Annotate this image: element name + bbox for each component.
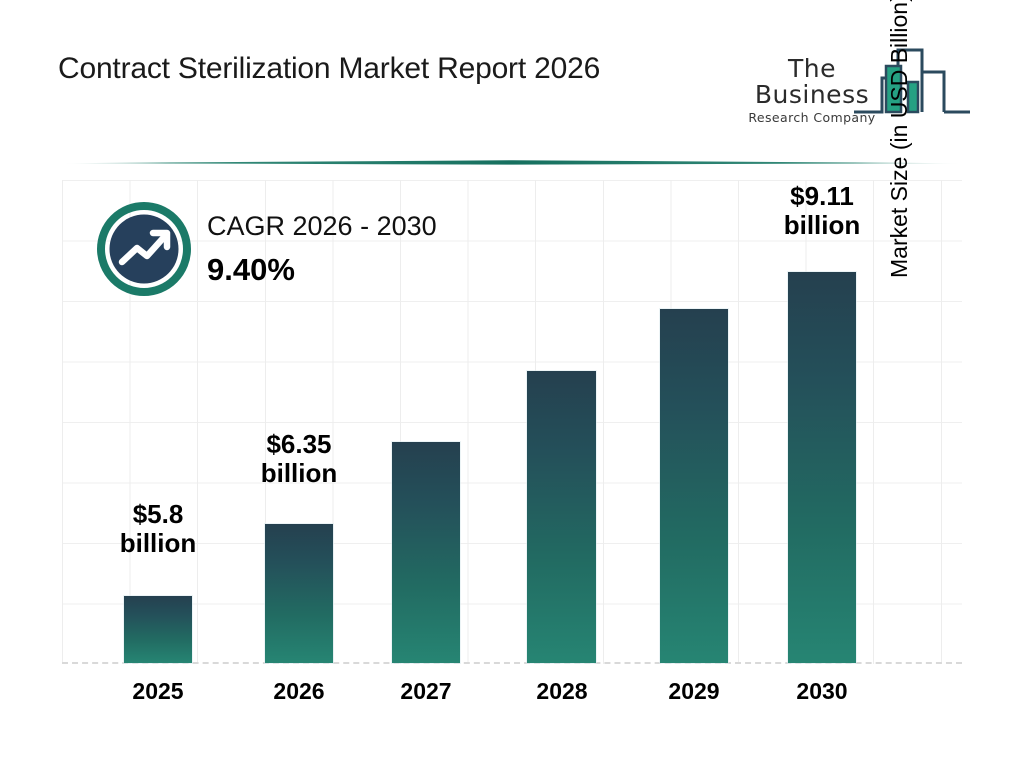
trending-up-icon [97,202,191,296]
bar-2027[interactable] [392,442,460,663]
bar-value-label-2030-line1: $9.11 [752,182,892,211]
x-axis-label-2025: 2025 [98,678,218,705]
x-axis-label-2027: 2027 [366,678,486,705]
bar-value-label-2026-line1: $6.35 [229,430,369,459]
bar-value-label-2026-line2: billion [229,459,369,488]
bar-value-label-2025: $5.8 billion [88,500,228,559]
bar-2029[interactable] [660,309,728,663]
bar-value-label-2030: $9.11 billion [752,182,892,241]
x-axis-label-2029: 2029 [634,678,754,705]
bar-2028[interactable] [527,371,596,663]
x-axis-label-2026: 2026 [239,678,359,705]
cagr-text-group: CAGR 2026 - 2030 9.40% [207,212,437,288]
x-axis-label-2030: 2030 [762,678,882,705]
cagr-badge: CAGR 2026 - 2030 9.40% [97,202,497,306]
y-axis-title: Market Size (in USD Billion) [886,0,913,278]
bar-2026[interactable] [265,524,333,663]
bar-value-label-2026: $6.35 billion [229,430,369,489]
bar-2025[interactable] [124,596,192,663]
bars-layer: $5.8 billion $6.35 billion $9.11 billion… [0,0,1024,768]
bar-value-label-2025-line2: billion [88,529,228,558]
bar-value-label-2025-line1: $5.8 [88,500,228,529]
x-axis-label-2028: 2028 [502,678,622,705]
bar-value-label-2030-line2: billion [752,211,892,240]
chart-page: Contract Sterilization Market Report 202… [0,0,1024,768]
cagr-value: 9.40% [207,252,437,288]
bar-2030[interactable] [788,272,856,663]
cagr-period-label: CAGR 2026 - 2030 [207,212,437,242]
